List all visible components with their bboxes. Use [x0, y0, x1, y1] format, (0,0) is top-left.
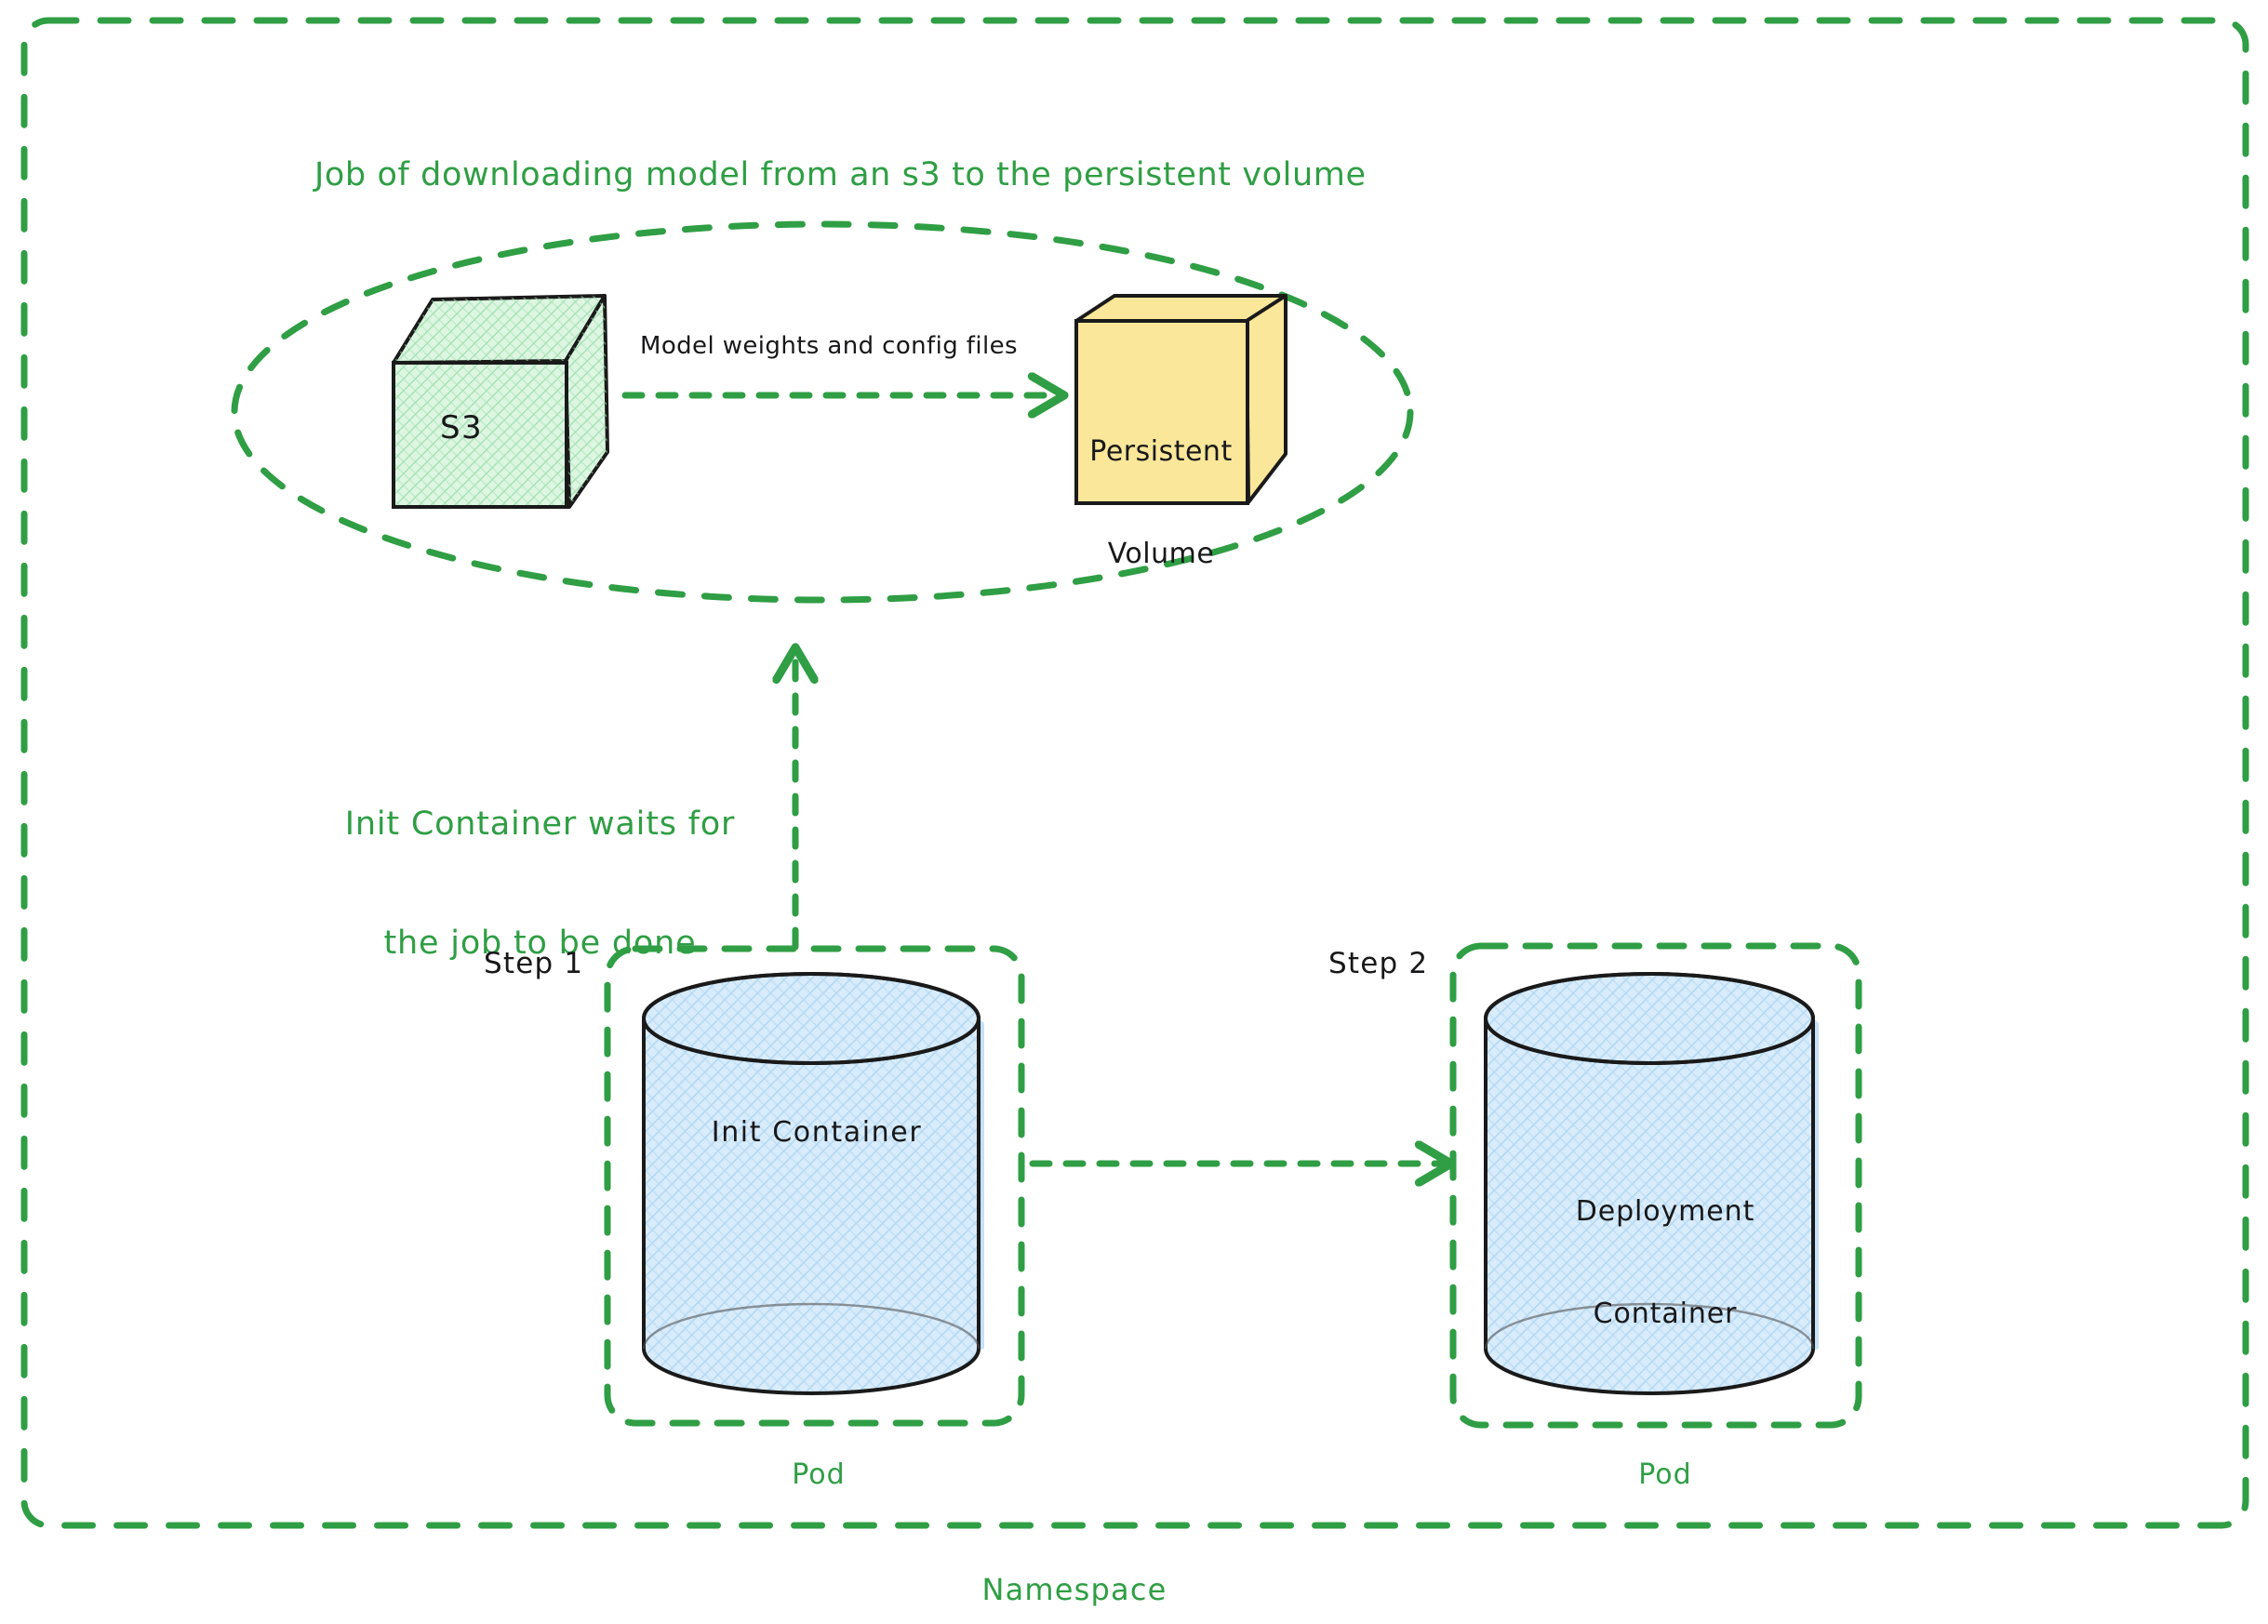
persistent-volume-label-line1: Persistent: [1081, 435, 1241, 470]
persistent-volume-label-line2: Volume: [1081, 538, 1241, 572]
persistent-volume-label: Persistent Volume: [1081, 367, 1241, 640]
deployment-container-label-line2: Container: [1544, 1298, 1786, 1332]
s3-cube: [394, 296, 607, 507]
init-container-label: Init Container: [696, 1116, 938, 1151]
pod-2-label: Pod: [1581, 1458, 1749, 1493]
pod-1-label: Pod: [735, 1458, 902, 1493]
job-group-title: Job of downloading model from an s3 to t…: [314, 155, 1367, 195]
pod-2-step-label: Step 2: [1328, 947, 1428, 982]
deployment-container-label-line1: Deployment: [1544, 1195, 1786, 1230]
s3-label: S3: [440, 409, 483, 447]
namespace-label: Namespace: [949, 1572, 1200, 1608]
deployment-container-label: Deployment Container: [1544, 1127, 1786, 1400]
diagram-canvas: Job of downloading model from an s3 to t…: [0, 0, 2268, 1624]
pod-1-step-label: Step 1: [484, 947, 583, 982]
init-wait-edge-label-line1: Init Container waits for: [291, 805, 789, 845]
init-wait-edge-label: Init Container waits for the job to be d…: [291, 725, 789, 1044]
model-weights-edge-label: Model weights and config files: [640, 332, 1018, 362]
